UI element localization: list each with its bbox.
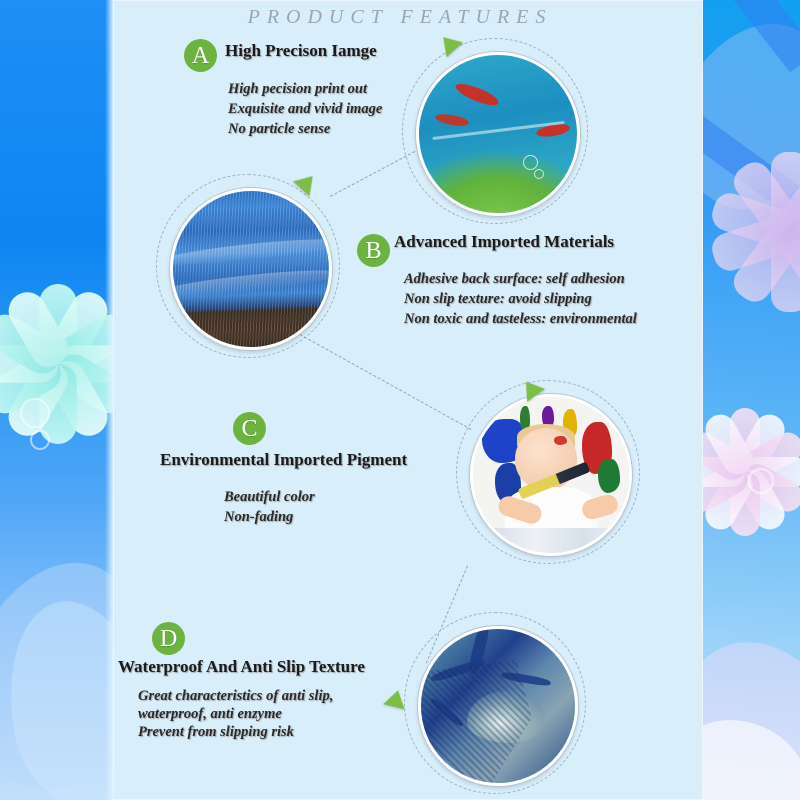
feature-heading-a: High Precison Iamge bbox=[225, 41, 377, 61]
feature-line-b-1: Adhesive back surface: self adhesion bbox=[404, 269, 625, 289]
texture-vein-four bbox=[430, 697, 465, 728]
texture-vein-two bbox=[430, 658, 486, 684]
feature-line-b-3: Non toxic and tasteless: environmental bbox=[404, 309, 637, 329]
fabric-fold-two bbox=[170, 265, 332, 300]
feature-line-d-3: Prevent from slipping risk bbox=[138, 722, 294, 742]
koi-fish-one bbox=[453, 79, 500, 110]
feature-heading-d: Waterproof And Anti Slip Texture bbox=[118, 657, 365, 677]
swirl-ornament-two bbox=[30, 430, 50, 450]
feature-line-d-2: waterproof, anti enzyme bbox=[138, 704, 282, 724]
page-title: PRODUCT FEATURES bbox=[0, 6, 800, 29]
product-features-infographic: PRODUCT FEATURES A High Precison Iamge H… bbox=[0, 0, 800, 800]
water-bubble-two bbox=[534, 169, 544, 179]
texture-vein-three bbox=[501, 671, 552, 688]
feature-line-b-2: Non slip texture: avoid slipping bbox=[404, 289, 592, 309]
feature-image-d bbox=[418, 626, 578, 786]
paint-splatter-green bbox=[598, 459, 620, 493]
swirl-ornament-three bbox=[748, 468, 774, 494]
feature-badge-b: B bbox=[357, 234, 390, 267]
feature-line-c-2: Non-fading bbox=[224, 507, 293, 527]
feature-badge-c: C bbox=[233, 412, 266, 445]
paint-dot-forehead bbox=[554, 436, 567, 445]
feature-line-a-3: No particle sense bbox=[228, 119, 330, 139]
feature-image-a bbox=[416, 52, 580, 216]
feature-line-a-1: High pecision print out bbox=[228, 79, 367, 99]
feature-line-d-1: Great characteristics of anti slip, bbox=[138, 686, 333, 706]
water-droplet bbox=[467, 691, 545, 743]
feature-heading-b: Advanced Imported Materials bbox=[394, 232, 614, 252]
feature-line-a-2: Exquisite and vivid image bbox=[228, 99, 382, 119]
feature-line-c-1: Beautiful color bbox=[224, 487, 315, 507]
feature-heading-c: Environmental Imported Pigment bbox=[160, 450, 407, 470]
texture-vein-one bbox=[467, 626, 491, 676]
feature-badge-a: A bbox=[184, 39, 217, 72]
koi-fish-two bbox=[434, 112, 469, 129]
feature-image-c bbox=[470, 394, 632, 556]
fabric-fold-one bbox=[170, 234, 332, 269]
feature-image-b bbox=[170, 188, 332, 350]
feature-badge-d: D bbox=[152, 622, 185, 655]
painted-floor bbox=[473, 528, 629, 554]
water-bubble-one bbox=[523, 155, 538, 170]
swirl-ornament-one bbox=[20, 398, 50, 428]
